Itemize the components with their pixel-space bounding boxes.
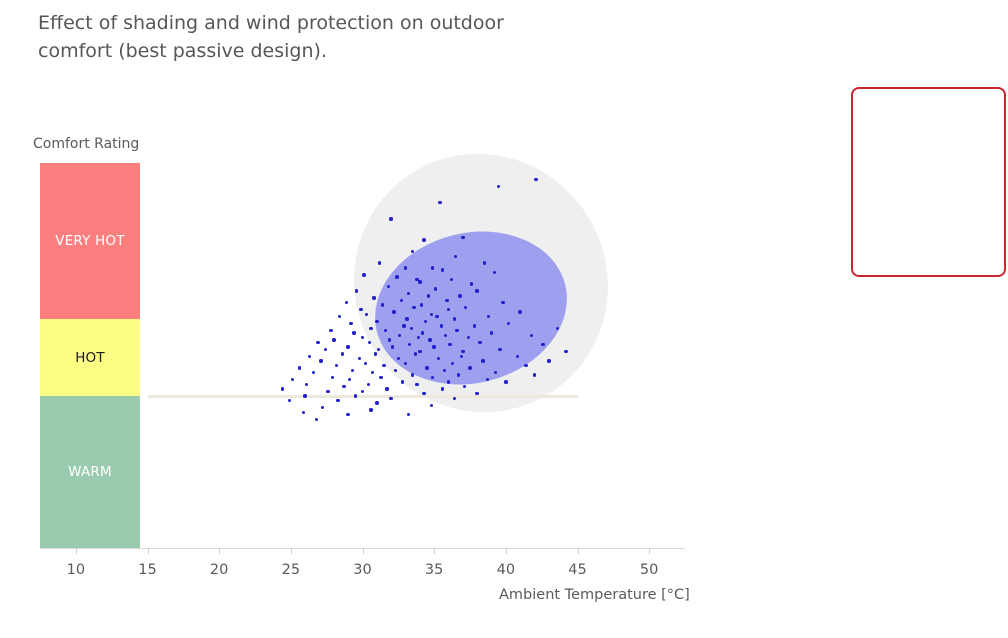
comfort-band-hot: HOT [40,319,140,396]
scatter-point [326,390,329,393]
scatter-point [302,411,305,414]
scatter-point [351,369,354,372]
comfort-threshold-line [148,395,578,398]
scatter-point [335,364,338,367]
scatter-point [316,341,319,344]
x-tick-label-50: 50 [626,562,672,578]
scatter-point [331,376,334,379]
scatter-point [338,315,341,318]
comfort-band-very-hot: VERY HOT [40,163,140,319]
scatter-point [348,378,351,381]
comfort-band-warm-label: WARM [68,464,112,480]
scatter-point [379,376,382,379]
x-tick-label-15: 15 [125,562,171,578]
x-axis-title: Ambient Temperature [°C] [499,587,690,603]
scatter-point [324,348,327,351]
scatter-point [371,371,374,374]
x-tick-35 [434,548,435,554]
scatter-point [305,383,308,386]
x-tick-label-35: 35 [411,562,457,578]
scatter-point [291,378,294,381]
scatter-point [346,413,349,416]
x-tick-label-45: 45 [555,562,601,578]
x-tick-label-20: 20 [196,562,242,578]
scatter-point [367,383,370,386]
scatter-point [321,406,324,409]
x-tick-45 [578,548,579,554]
comfort-band-hot-label: HOT [75,350,105,366]
x-tick-label-30: 30 [340,562,386,578]
x-tick-10 [76,548,77,554]
y-axis-caption: Comfort Rating [33,136,139,152]
scatter-point [312,371,315,374]
scatter-point [349,322,352,325]
scatter-point [332,338,335,341]
scatter-point [385,387,388,390]
scatter-point [315,418,318,421]
scatter-point [369,408,372,411]
scatter-point [361,336,364,339]
scatter-point [361,390,364,393]
x-tick-30 [363,548,364,554]
scatter-point [288,399,291,402]
scatter-point [364,362,367,365]
scatter-point [329,329,332,332]
x-tick-40 [506,548,507,554]
scatter-point [319,359,322,362]
scatter-point [358,357,361,360]
scatter-point [375,401,378,404]
scatter-point [430,404,433,407]
scatter-point [341,352,344,355]
comfort-band-very-hot-label: VERY HOT [55,233,124,249]
x-tick-15 [148,548,149,554]
x-tick-20 [219,548,220,554]
scatter-point [298,366,301,369]
x-tick-label-40: 40 [483,562,529,578]
legend-box[interactable] [851,87,1006,277]
scatter-point [346,345,349,348]
scatter-point [345,301,348,304]
scatter-point [336,399,339,402]
scatter-point [281,387,284,390]
comfort-band-warm: WARM [40,396,140,548]
x-tick-50 [649,548,650,554]
x-tick-25 [291,548,292,554]
scatter-point [308,355,311,358]
scatter-point [342,385,345,388]
x-tick-label-25: 25 [268,562,314,578]
x-tick-label-10: 10 [53,562,99,578]
scatter-point [352,331,355,334]
scatter-point [407,413,410,416]
